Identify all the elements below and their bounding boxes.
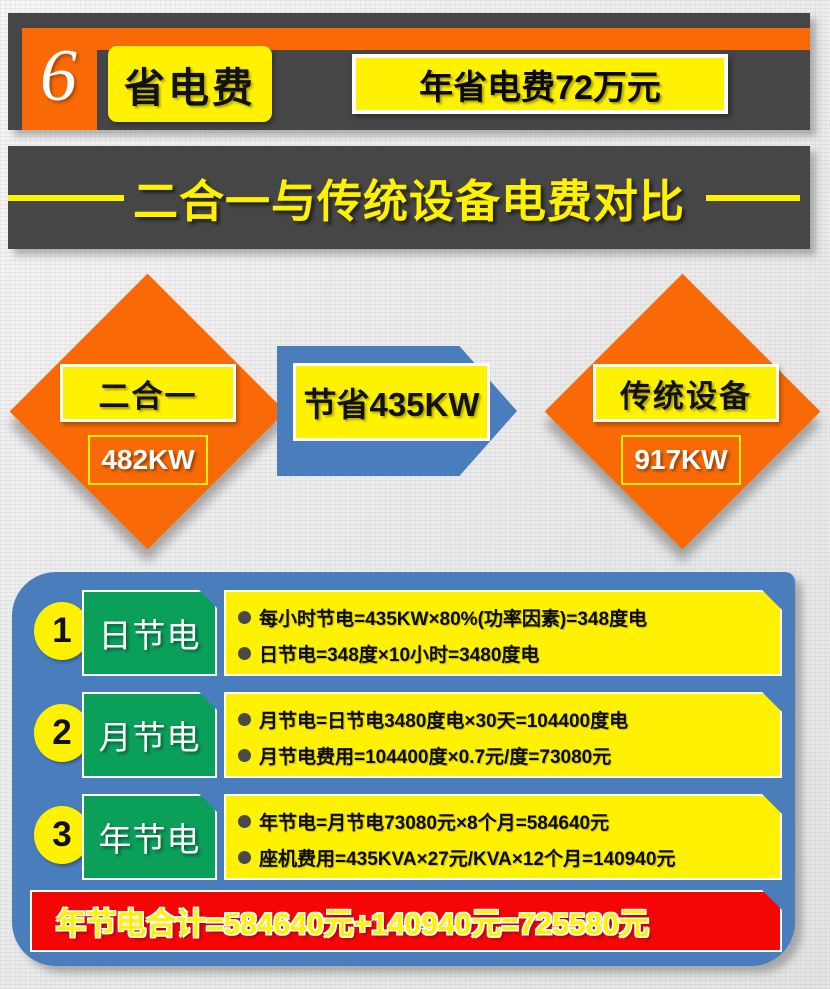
bullet-dot-icon [238,713,251,726]
diamond-right-value-label: 917KW [634,444,727,476]
calc-bullet-text: 每小时节电=435KW×80%(功率因素)=348度电 [259,604,647,631]
calc-bullet-text: 月节电费用=104400度×0.7元/度=73080元 [259,742,611,769]
calc-row: 3 年节电 年节电=月节电73080元×8个月=584640元 座机费用=435… [12,788,795,884]
calc-row-number: 1 [52,611,71,651]
bullet-dot-icon [238,647,251,660]
diamond-left-title-label: 二合一 [99,371,198,416]
calc-bullet-line: 日节电=348度×10小时=3480度电 [238,635,780,671]
total-savings-label: 年节电合计=584640元+140940元=725580元 [56,899,649,943]
comparison-group: 二合一 482KW 节省435KW 传统设备 917KW [0,262,830,562]
infographic-stage: 6 省电费 年省电费72万元 二合一与传统设备电费对比 二合一 482KW 节省… [0,0,830,989]
header-number-block: 6 [22,28,97,130]
savings-arrow-label: 节省435KW [303,378,479,426]
calc-row-content: 每小时节电=435KW×80%(功率因素)=348度电 日节电=348度×10小… [224,590,782,676]
diamond-traditional: 传统设备 917KW [545,274,821,550]
total-savings-bar: 年节电合计=584640元+140940元=725580元 [30,890,782,952]
diamond-left-value: 482KW [88,435,208,485]
calc-bullet-line: 座机费用=435KVA×27元/KVA×12个月=140940元 [238,839,780,875]
calc-bullet-text: 年节电=月节电73080元×8个月=584640元 [259,808,609,835]
calc-row-tag-label: 月节电 [99,711,201,759]
header-topic-label: 省电费 [124,54,256,114]
calc-row-number: 2 [52,713,71,753]
calc-bullet-line: 年节电=月节电73080元×8个月=584640元 [238,803,780,839]
calc-bullet-text: 座机费用=435KVA×27元/KVA×12个月=140940元 [259,844,675,871]
bullet-dot-icon [238,815,251,828]
savings-arrow-label-box: 节省435KW [293,363,490,441]
calc-row-content: 年节电=月节电73080元×8个月=584640元 座机费用=435KVA×27… [224,794,782,880]
bullet-dot-icon [238,749,251,762]
bullet-dot-icon [238,851,251,864]
bullet-dot-icon [238,611,251,624]
calc-bullet-text: 月节电=日节电3480度电×30天=104400度电 [259,706,628,733]
section-title: 二合一与传统设备电费对比 [8,146,810,249]
diamond-right-value: 917KW [621,435,741,485]
diamond-right-title-label: 传统设备 [620,371,752,416]
calc-row-number-badge: 3 [34,806,90,864]
calc-row-tag: 年节电 [82,794,217,880]
calc-row-number: 3 [52,815,71,855]
diamond-two-in-one: 二合一 482KW [10,274,286,550]
header-step-number: 6 [40,39,77,113]
diamond-left-value-label: 482KW [101,444,194,476]
calc-row: 1 日节电 每小时节电=435KW×80%(功率因素)=348度电 日节电=34… [12,584,795,680]
calc-row: 2 月节电 月节电=日节电3480度电×30天=104400度电 月节电费用=1… [12,686,795,782]
calc-row-number-badge: 1 [34,602,90,660]
calc-bullet-line: 月节电费用=104400度×0.7元/度=73080元 [238,737,780,773]
diamond-right-title: 传统设备 [593,364,779,422]
header-highlight-banner: 年省电费72万元 [352,54,728,114]
calc-row-content: 月节电=日节电3480度电×30天=104400度电 月节电费用=104400度… [224,692,782,778]
calc-bullet-line: 月节电=日节电3480度电×30天=104400度电 [238,701,780,737]
calc-bullet-line: 每小时节电=435KW×80%(功率因素)=348度电 [238,599,780,635]
calc-row-number-badge: 2 [34,704,90,762]
calc-row-tag: 日节电 [82,590,217,676]
calc-bullet-text: 日节电=348度×10小时=3480度电 [259,640,539,667]
section-title-bar: 二合一与传统设备电费对比 [8,146,810,249]
calc-row-tag-label: 日节电 [99,609,201,657]
header-topic-tag: 省电费 [108,46,272,122]
calc-row-tag-label: 年节电 [99,813,201,861]
header-highlight-label: 年省电费72万元 [419,60,661,109]
calculation-panel: 1 日节电 每小时节电=435KW×80%(功率因素)=348度电 日节电=34… [12,572,795,966]
calc-row-tag: 月节电 [82,692,217,778]
diamond-left-title: 二合一 [60,364,236,422]
